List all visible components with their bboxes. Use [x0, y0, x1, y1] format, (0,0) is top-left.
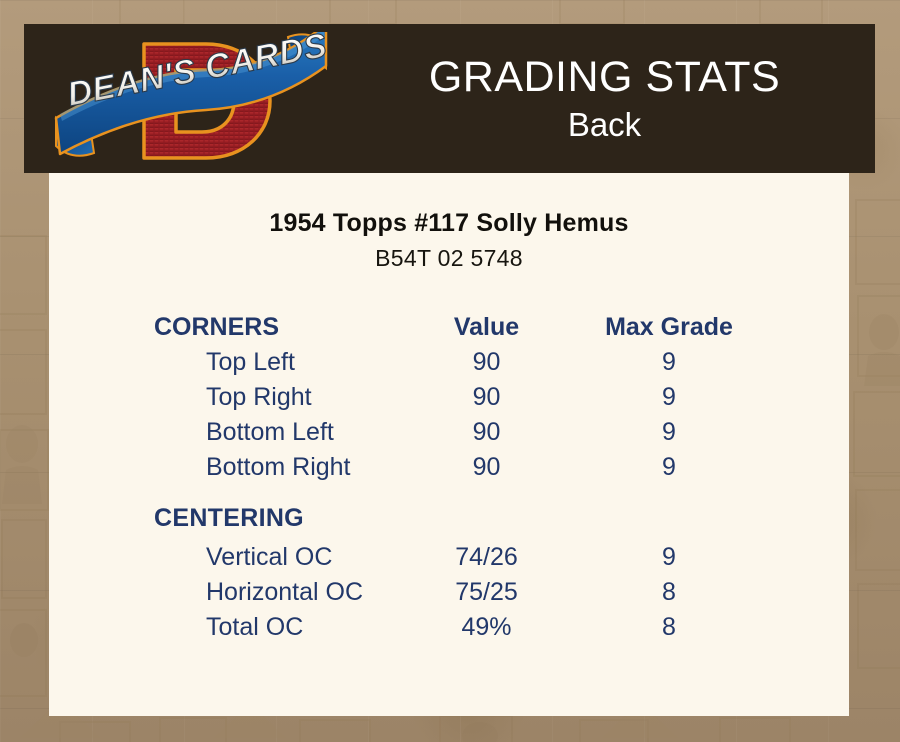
- deans-cards-logo[interactable]: DEAN'S CARDS: [48, 32, 334, 168]
- card-serial-number: B54T 02 5748: [49, 245, 849, 272]
- row-value: 74/26: [399, 543, 574, 572]
- row-value: 49%: [399, 613, 574, 642]
- page-subtitle: Back: [568, 104, 641, 146]
- column-header-value: Value: [399, 313, 574, 342]
- table-row: Vertical OC 74/26 9: [49, 543, 849, 578]
- card-title: 1954 Topps #117 Solly Hemus: [49, 209, 849, 238]
- row-value: 90: [399, 348, 574, 377]
- row-max-grade: 8: [574, 578, 764, 607]
- page-root: DEAN'S CARDS GRADING STATS Back 1954 Top…: [0, 0, 900, 742]
- header-title-group: GRADING STATS Back: [334, 24, 875, 173]
- deans-cards-logo-icon: DEAN'S CARDS: [48, 32, 334, 168]
- row-max-grade: 9: [574, 453, 764, 482]
- grading-stats-table: CORNERS Value Max Grade Top Left 90 9 To…: [49, 313, 849, 648]
- content-panel: 1954 Topps #117 Solly Hemus B54T 02 5748…: [49, 173, 849, 716]
- section-header-corners: CORNERS: [49, 313, 399, 342]
- row-max-grade: 9: [574, 543, 764, 572]
- row-max-grade: 9: [574, 348, 764, 377]
- section-header-row: CENTERING: [49, 504, 849, 543]
- row-value: 75/25: [399, 578, 574, 607]
- row-value: 90: [399, 453, 574, 482]
- page-title: GRADING STATS: [429, 52, 780, 102]
- row-label: Top Right: [49, 383, 399, 412]
- row-value: 90: [399, 418, 574, 447]
- row-label: Top Left: [49, 348, 399, 377]
- row-value: 90: [399, 383, 574, 412]
- table-header-row: CORNERS Value Max Grade: [49, 313, 849, 348]
- section-spacer: [49, 488, 849, 504]
- table-row: Bottom Left 90 9: [49, 418, 849, 453]
- row-label: Horizontal OC: [49, 578, 399, 607]
- section-header-centering: CENTERING: [49, 504, 399, 533]
- row-max-grade: 9: [574, 418, 764, 447]
- row-max-grade: 8: [574, 613, 764, 642]
- row-label: Vertical OC: [49, 543, 399, 572]
- column-header-max-grade: Max Grade: [574, 313, 764, 342]
- table-row: Bottom Right 90 9: [49, 453, 849, 488]
- row-label: Total OC: [49, 613, 399, 642]
- table-row: Horizontal OC 75/25 8: [49, 578, 849, 613]
- header-band: DEAN'S CARDS GRADING STATS Back: [24, 24, 875, 173]
- row-label: Bottom Left: [49, 418, 399, 447]
- table-row: Total OC 49% 8: [49, 613, 849, 648]
- row-max-grade: 9: [574, 383, 764, 412]
- table-row: Top Right 90 9: [49, 383, 849, 418]
- row-label: Bottom Right: [49, 453, 399, 482]
- table-row: Top Left 90 9: [49, 348, 849, 383]
